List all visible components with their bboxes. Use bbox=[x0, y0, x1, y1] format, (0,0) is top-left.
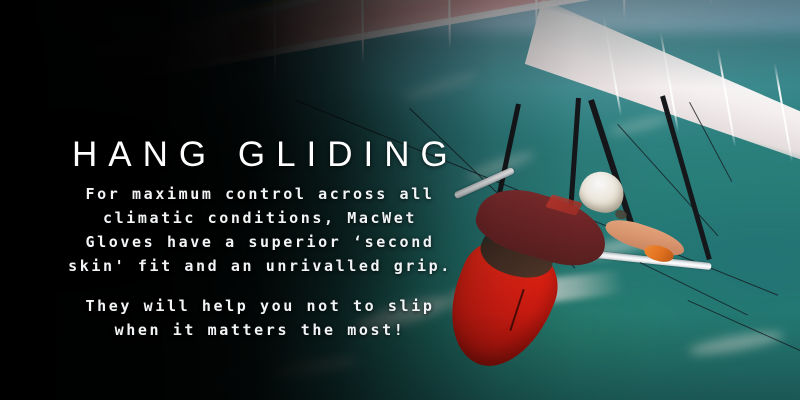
body-line: For maximum control across all bbox=[0, 182, 520, 206]
body-line: when it matters the most! bbox=[0, 318, 520, 342]
hang-gliding-banner: HANG GLIDING For maximum control across … bbox=[0, 0, 800, 400]
body-line: skin' fit and an unrivalled grip. bbox=[0, 254, 520, 278]
body-line: Gloves have a superior ‘second bbox=[0, 230, 520, 254]
body-copy: For maximum control across all climatic … bbox=[0, 182, 520, 342]
page-title: HANG GLIDING bbox=[72, 137, 459, 172]
helmet-visor bbox=[614, 208, 628, 220]
body-line: climatic conditions, MacWet bbox=[0, 206, 520, 230]
body-line: They will help you not to slip bbox=[0, 294, 520, 318]
paragraph-spacer bbox=[0, 278, 520, 294]
